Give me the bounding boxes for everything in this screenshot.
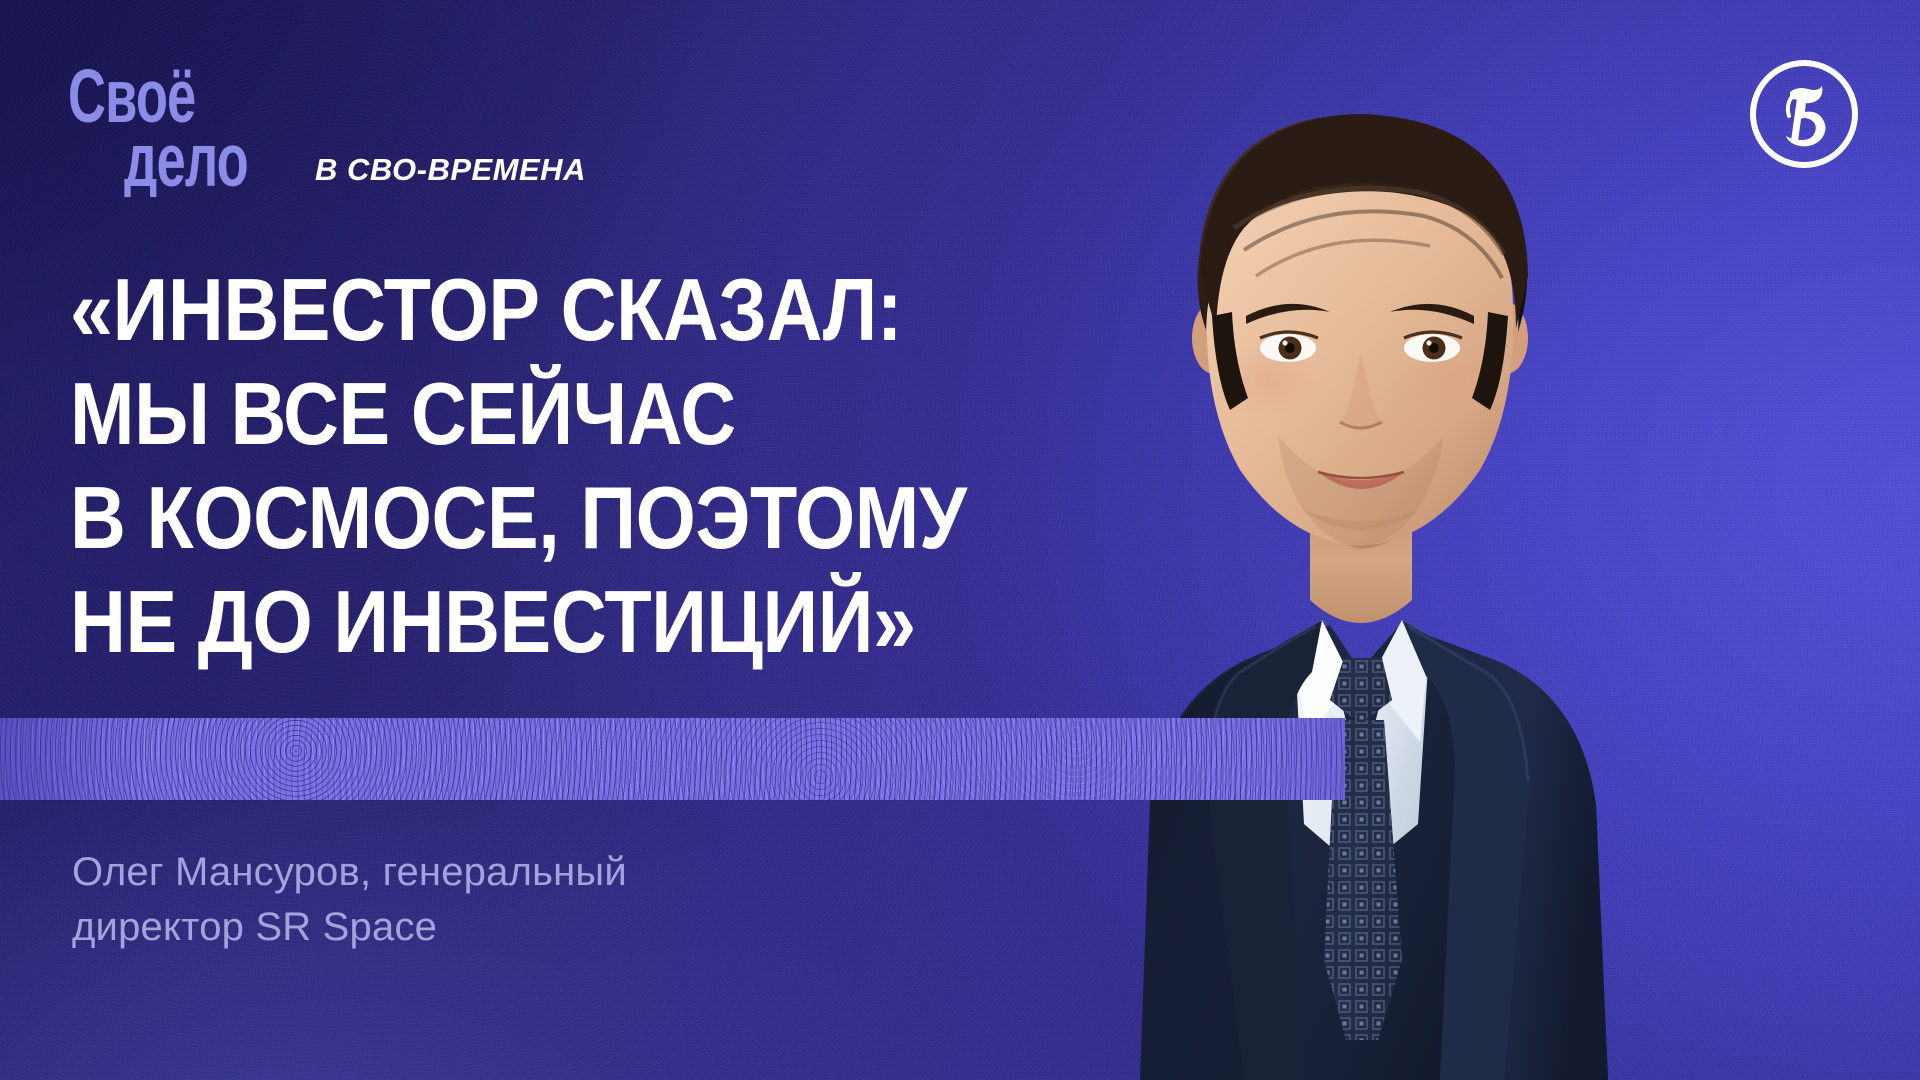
- highlight-bar-left-fade: [0, 718, 150, 800]
- portrait-photo: [1030, 80, 1790, 1080]
- headline-highlight-bar: [0, 718, 1345, 800]
- banner-canvas: Своё дело В СВО-ВРЕМЕНА «ИНВЕСТОР СКАЗАЛ…: [0, 0, 1920, 1080]
- byline-line-2: директор SR Space: [72, 900, 932, 955]
- headline-line-2: МЫ ВСЕ СЕЙЧАС: [70, 362, 1056, 466]
- headline-line-1: «ИНВЕСТОР СКАЗАЛ:: [70, 258, 1056, 362]
- brand-line-2: дело: [124, 117, 248, 197]
- kommersant-hard-sign-logo: [1746, 56, 1862, 172]
- byline-line-1: Олег Мансуров, генеральный: [72, 845, 932, 900]
- svoe-delo-logo: Своё дело В СВО-ВРЕМЕНА: [68, 62, 708, 197]
- headline: «ИНВЕСТОР СКАЗАЛ: МЫ ВСЕ СЕЙЧАС В КОСМОС…: [70, 258, 1190, 674]
- brand-tagline: В СВО-ВРЕМЕНА: [315, 152, 586, 187]
- highlight-bar-right-fade: [1255, 718, 1345, 800]
- highlight-bar-grain: [0, 718, 1345, 800]
- byline: Олег Мансуров, генеральный директор SR S…: [72, 845, 932, 955]
- headline-line-4: НЕ ДО ИНВЕСТИЦИЙ»: [70, 570, 1056, 674]
- headline-line-3: В КОСМОСЕ, ПОЭТОМУ: [70, 466, 1056, 570]
